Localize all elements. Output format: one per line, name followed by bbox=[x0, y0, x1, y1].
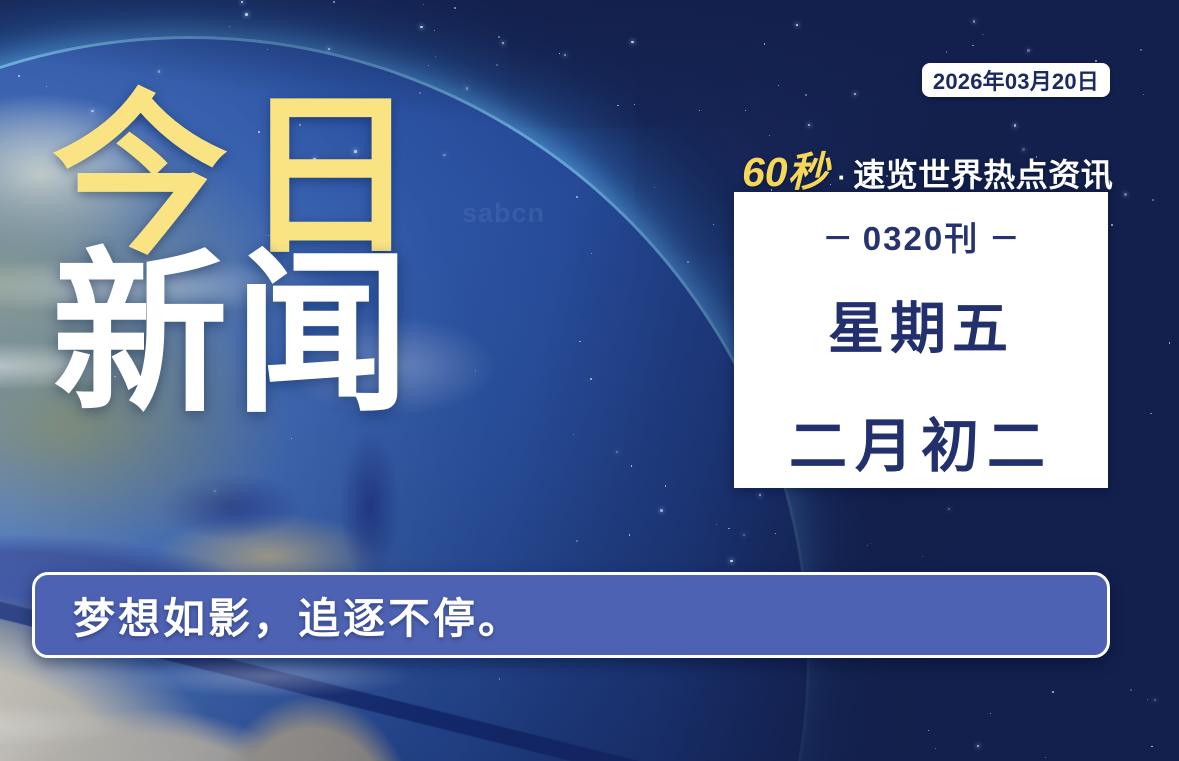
lunar-date-label: 二月初二 bbox=[789, 399, 1053, 483]
weekday-label: 星期五 bbox=[828, 284, 1014, 365]
headline: 60秒 · 速览世界热点资讯 bbox=[742, 138, 1113, 198]
issue-line: － 0320刊 － bbox=[823, 212, 1019, 260]
news-poster: sabcn 2026年03月20日 今日 新闻 60秒 · 速览世界热点资讯 －… bbox=[0, 0, 1179, 761]
brand-line-news: 新闻 bbox=[52, 254, 432, 418]
date-badge-label: 2026年03月20日 bbox=[933, 64, 1099, 96]
headline-seconds: 60秒 bbox=[742, 138, 829, 198]
brand-line-today: 今日 bbox=[52, 96, 432, 260]
headline-tagline: 速览世界热点资讯 bbox=[853, 150, 1113, 196]
issue-dash-left: － bbox=[823, 214, 853, 258]
issue-number: 0320刊 bbox=[863, 212, 979, 260]
page-title: 今日 新闻 bbox=[52, 96, 432, 417]
slogan-banner: 梦想如影，追逐不停。 bbox=[32, 572, 1110, 658]
headline-separator-icon: · bbox=[838, 162, 847, 193]
slogan-text: 梦想如影，追逐不停。 bbox=[73, 585, 523, 646]
date-badge: 2026年03月20日 bbox=[922, 63, 1110, 97]
issue-dash-right: － bbox=[989, 214, 1019, 258]
info-card: － 0320刊 － 星期五 二月初二 bbox=[734, 192, 1108, 488]
